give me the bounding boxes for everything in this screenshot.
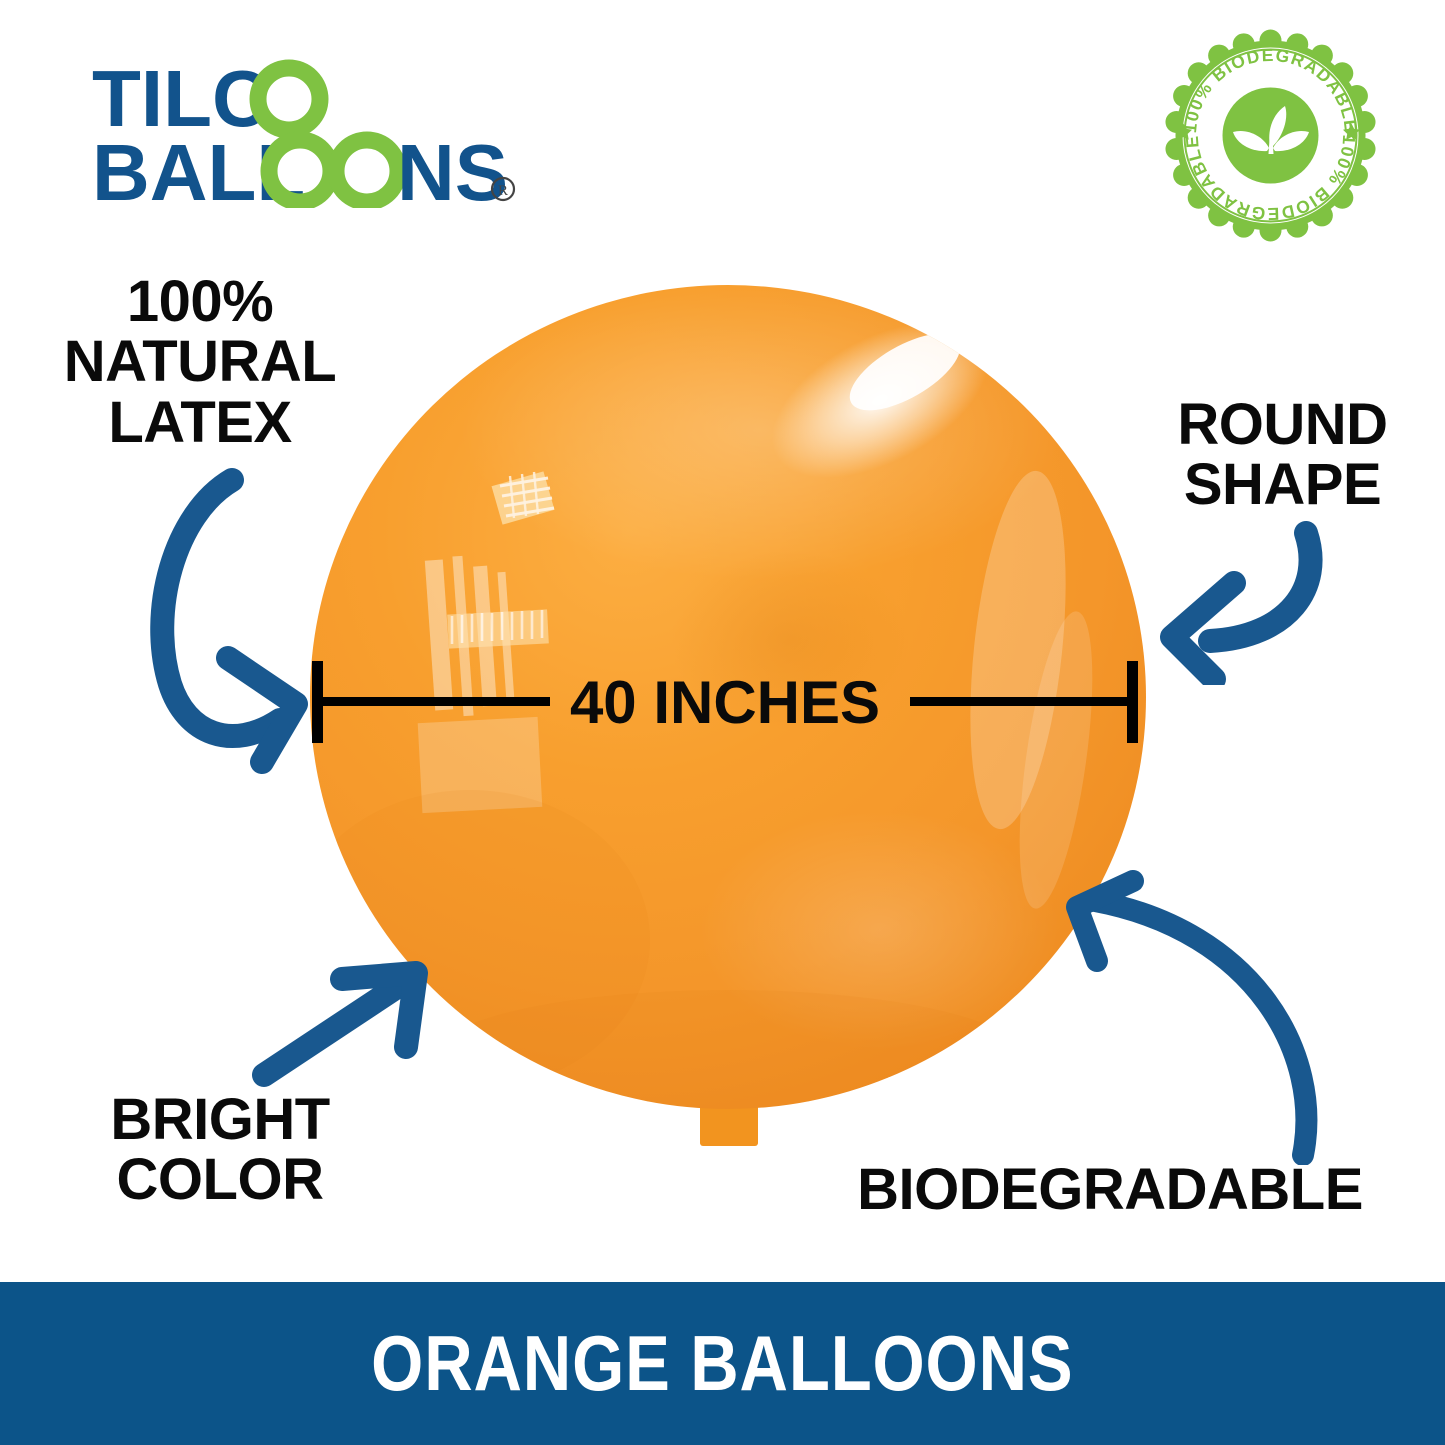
arrow-to-bright-color [250,955,450,1090]
logo-text-ns: NS [397,128,508,208]
feature-label-biodegradable: BIODEGRADABLE [800,1160,1420,1220]
balloon-neck [686,1068,772,1146]
arrow-to-round-shape [1148,515,1338,685]
dimension-label: 40 INCHES [554,668,896,737]
dimension-label-wrap: 40 INCHES [310,655,1140,750]
product-infographic: TILC BALL NS R [0,0,1445,1445]
feature-label-bright-color: BRIGHT COLOR [50,1090,390,1211]
brand-logo[interactable]: TILC BALL NS R [92,58,522,208]
biodegradable-badge: 100% BIODEGRADABLE 100% BIODEGRADABLE [1163,28,1378,243]
feature-label-round-shape: ROUND SHAPE [1120,395,1445,516]
arrow-to-biodegradable [1055,865,1345,1165]
bottom-banner: ORANGE BALLOONS [0,1282,1445,1445]
logo-balloon-o-3 [336,140,398,208]
banner-title: ORANGE BALLOONS [371,1318,1073,1409]
arrow-to-natural-latex [140,462,360,792]
feature-label-natural-latex: 100% NATURAL LATEX [0,272,400,453]
svg-text:R: R [498,183,508,199]
